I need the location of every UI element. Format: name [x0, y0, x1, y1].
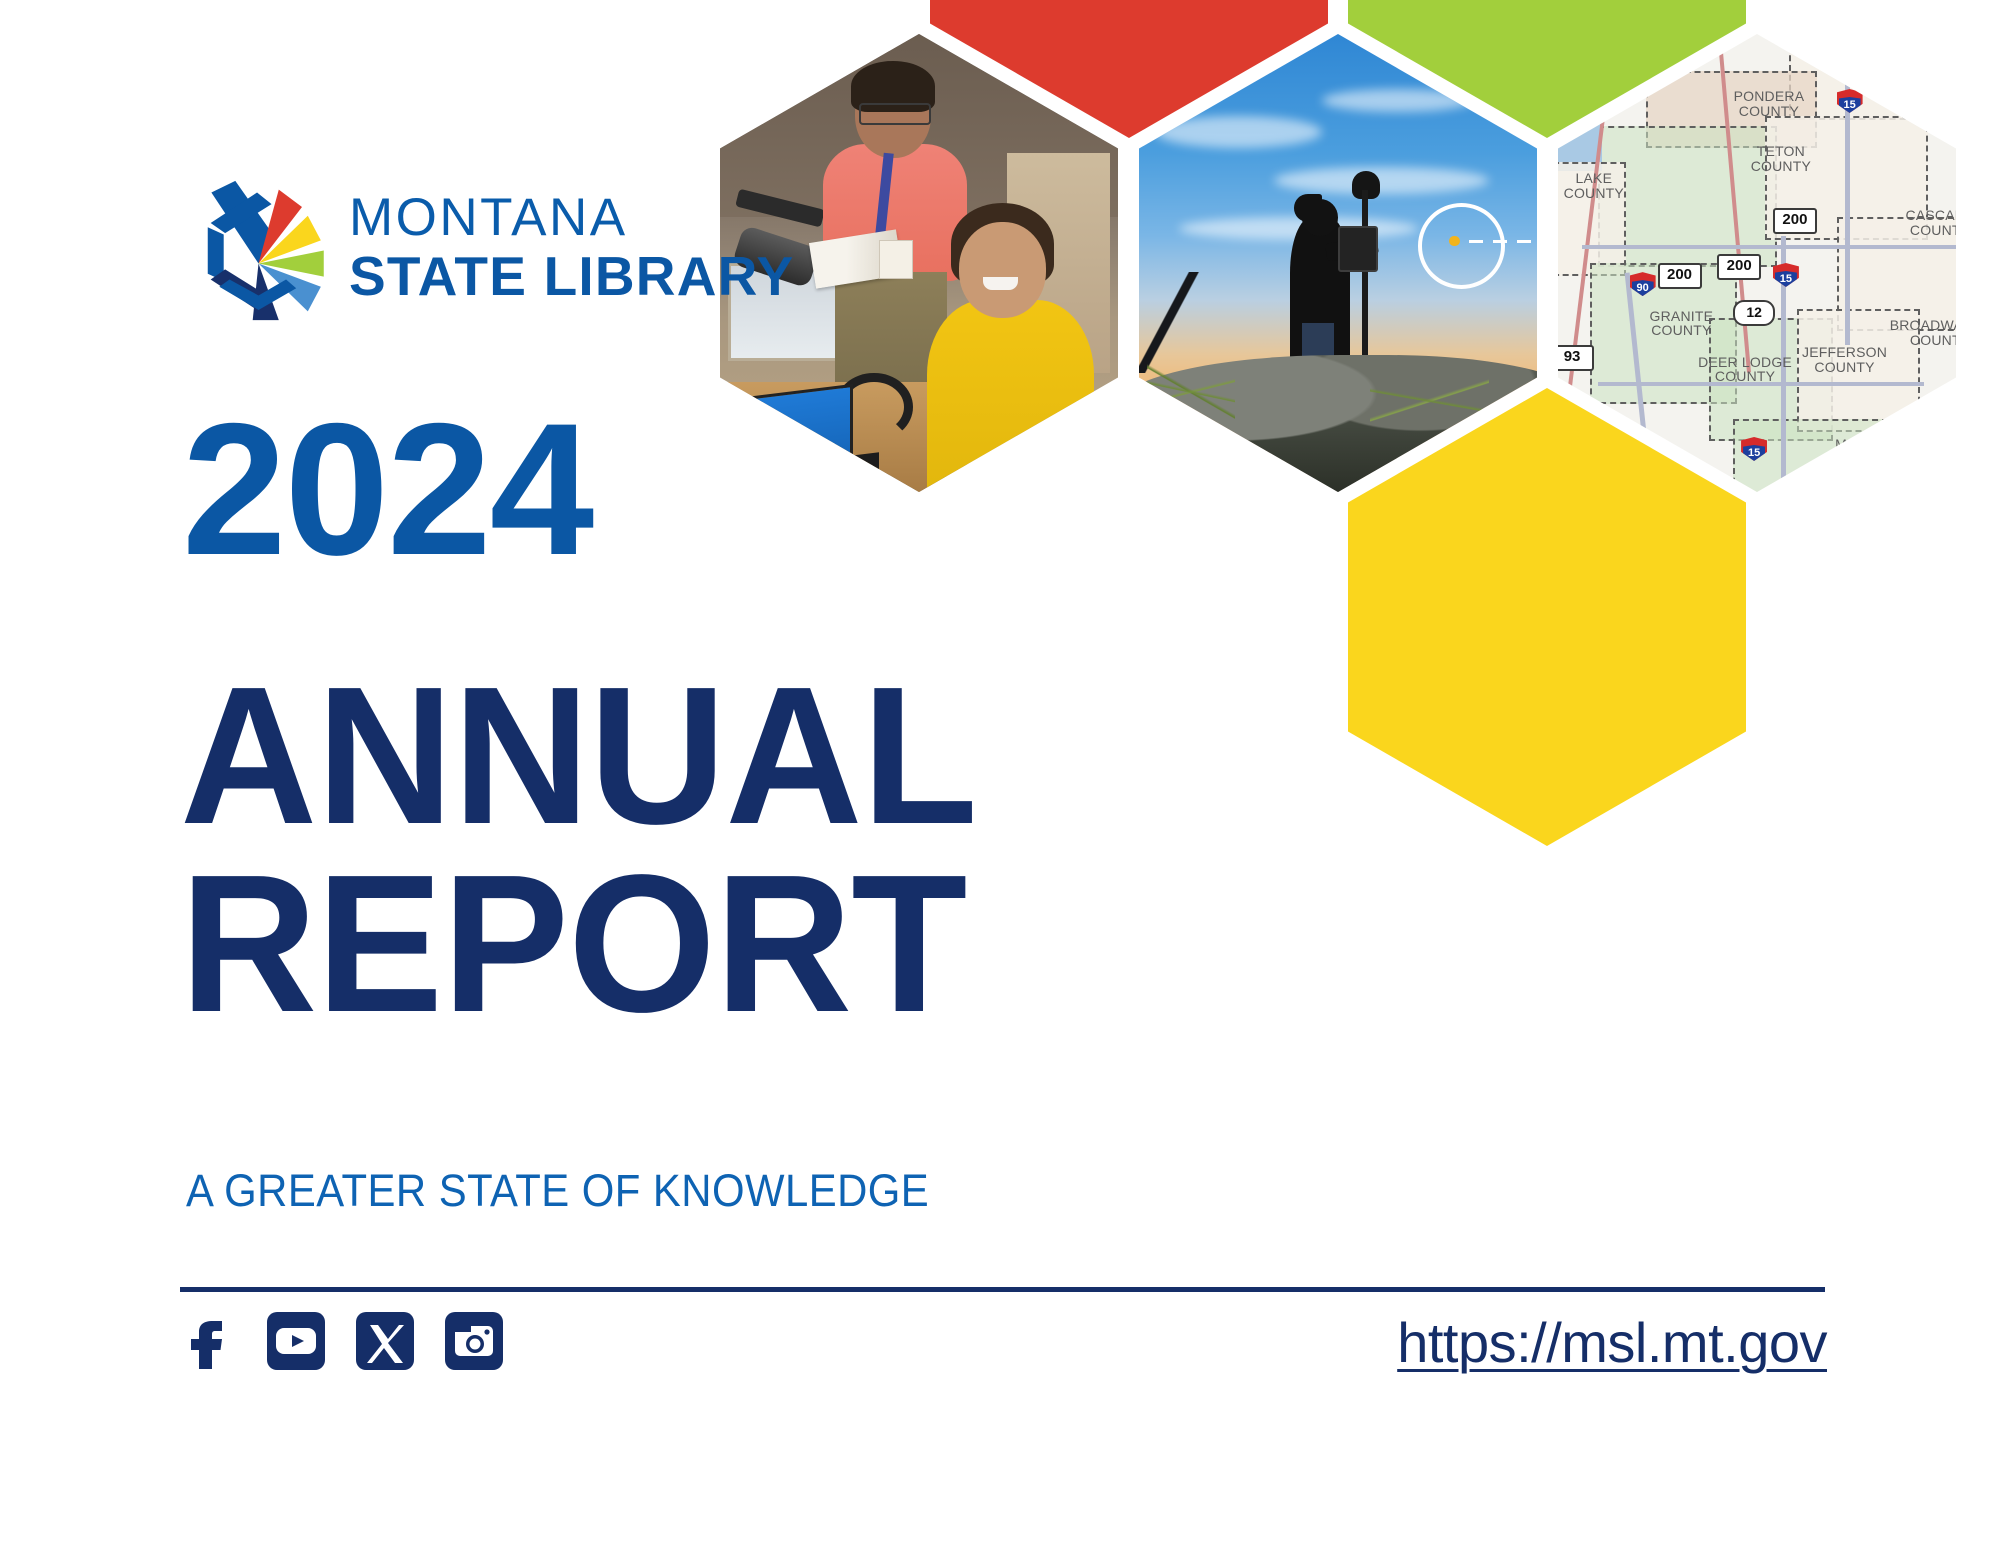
- map-label-teton-county: TETON COUNTY: [1733, 144, 1829, 173]
- map-label-granite-county: GRANITE COUNTY: [1630, 309, 1733, 338]
- map-label-deer-lodge-county: DEER LODGE COUNTY: [1685, 355, 1804, 384]
- footer-divider: [180, 1287, 1825, 1292]
- hex-map-montana-counties: TOOLE COUNTY PONDERA COUNTY TETON COUNTY…: [1558, 34, 1956, 492]
- map-label-cascade-county: CASCADE COUNTY: [1892, 208, 1956, 237]
- instagram-icon[interactable]: [445, 1312, 503, 1370]
- x-twitter-icon[interactable]: [356, 1312, 414, 1370]
- website-url-link[interactable]: https://msl.mt.gov: [1397, 1310, 1827, 1375]
- map-shield-us-200-west: 200: [1658, 263, 1702, 289]
- page-title-line-2: REPORT: [180, 850, 1247, 1038]
- library-hexagon-fan-icon: [186, 178, 331, 323]
- map-label-lake-county: LAKE COUNTY: [1558, 171, 1638, 200]
- cover-tagline: A GREATER STATE OF KNOWLEDGE: [186, 1165, 929, 1217]
- map-shield-state-12: 12: [1733, 300, 1775, 326]
- map-label-toole-county: TOOLE COUNTY: [1845, 52, 1933, 81]
- map-label-pondera-county: PONDERA COUNTY: [1717, 89, 1820, 118]
- logo-wordmark-montana: MONTANA: [349, 191, 779, 244]
- target-dot-overlay: [1449, 236, 1459, 247]
- page-title-line-1: ANNUAL: [180, 662, 1247, 850]
- logo-wordmark-state-library: STATE LIBRARY: [349, 248, 779, 306]
- page-title: ANNUAL REPORT: [180, 662, 1280, 1038]
- hex-photo-field-survey: [1139, 34, 1537, 492]
- youtube-icon[interactable]: [267, 1312, 325, 1370]
- cover-year: 2024: [182, 395, 592, 583]
- map-shield-us-93: 93: [1558, 345, 1594, 371]
- hex-yellow-solid: [1348, 388, 1746, 846]
- map-shield-us-200-north: 200: [1773, 208, 1817, 234]
- logo-wordmark: MONTANA STATE LIBRARY: [349, 191, 779, 311]
- map-label-jefferson-county: JEFFERSON COUNTY: [1789, 345, 1900, 374]
- map-shield-us-200-mid: 200: [1717, 254, 1761, 280]
- social-links: [178, 1312, 503, 1370]
- montana-county-map: TOOLE COUNTY PONDERA COUNTY TETON COUNTY…: [1558, 34, 1956, 492]
- facebook-icon[interactable]: [178, 1312, 236, 1370]
- target-ring-overlay: [1418, 203, 1506, 289]
- field-survey-scene: [1139, 34, 1537, 492]
- target-dashed-line-overlay: [1469, 240, 1537, 243]
- map-label-madison-county: MADISON COUNTY: [1813, 437, 1924, 466]
- montana-state-library-logo[interactable]: MONTANA STATE LIBRARY: [186, 178, 786, 323]
- annual-report-cover-page: TOOLE COUNTY PONDERA COUNTY TETON COUNTY…: [0, 0, 2000, 1545]
- map-label-broadwater-county: BROADWATER COUNTY: [1884, 318, 1956, 347]
